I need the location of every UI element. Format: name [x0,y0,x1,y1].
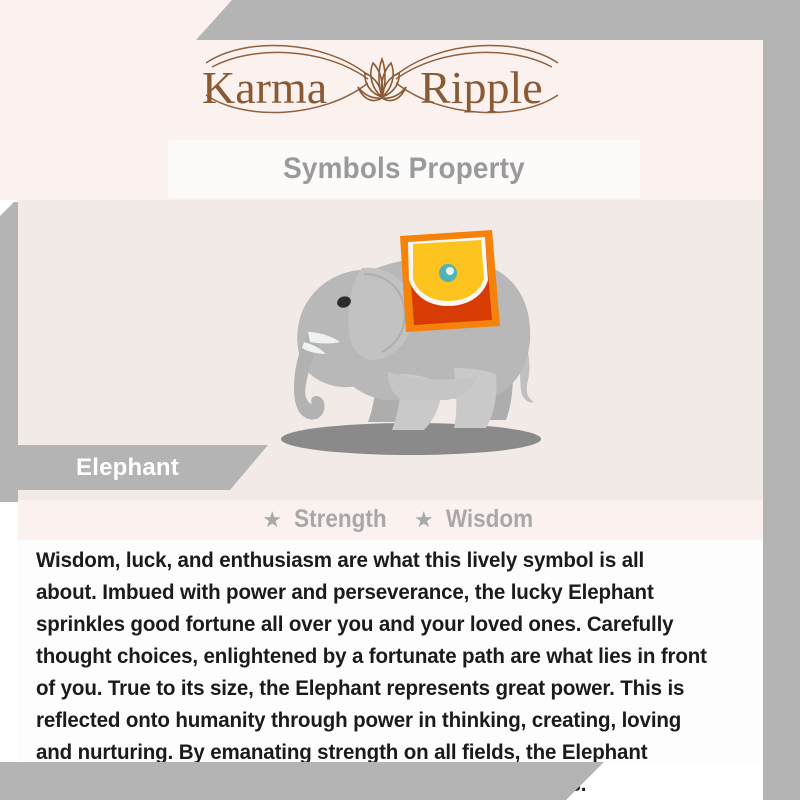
frame-band-bottom [0,762,660,800]
logo-word-ripple: Ripple [420,62,543,113]
symbol-name: Elephant [76,454,179,482]
elephant-illustration [256,222,586,472]
saddle-gem-highlight [446,267,454,275]
attributes-strip-background [18,500,763,542]
elephant-saddle [400,230,501,338]
frame-band-left [0,202,18,502]
page-title-band: Symbols Property [168,140,640,198]
symbol-card: Karma Ripple Symbols Property [0,0,800,800]
symbol-name-banner: Elephant [18,445,268,490]
karma-ripple-logo-graphic: Karma Ripple [172,31,592,127]
brand-logo[interactable]: Karma Ripple [0,24,763,134]
description-text: Wisdom, luck, and enthusiasm are what th… [36,544,709,800]
page-title: Symbols Property [283,152,525,186]
description-box: Wisdom, luck, and enthusiasm are what th… [18,540,763,762]
logo-word-karma: Karma [202,62,327,113]
frame-band-right [763,0,800,800]
